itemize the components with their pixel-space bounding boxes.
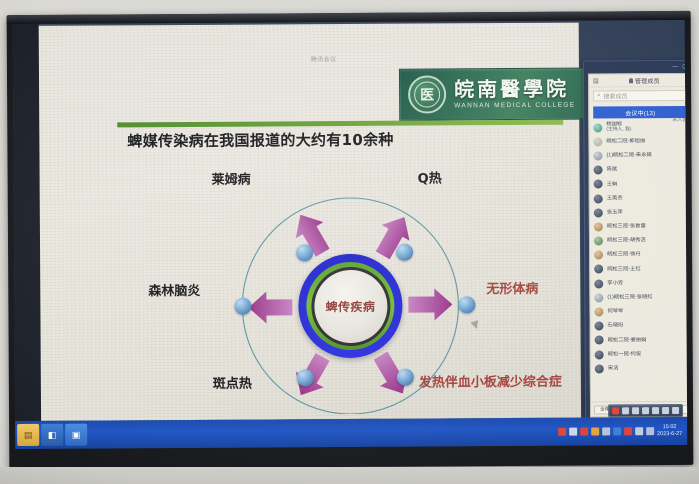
label-lyme-disease: 莱姆病 (212, 169, 251, 188)
taskbar-spacer (87, 432, 558, 435)
list-item[interactable]: 宋洁 (591, 361, 688, 376)
avatar (594, 307, 603, 316)
list-item[interactable]: 皖松三院-徐丹 (590, 248, 687, 263)
screen: 腾讯会议 医 皖南醫學院 WANNAN MEDICAL COLLEGE 蜱媒传染… (13, 20, 688, 449)
participant-name-text: 杨国标 (606, 121, 622, 127)
settings-icon[interactable] (672, 407, 679, 414)
list-item[interactable]: 皖松三院-胡秀洁 (590, 233, 687, 248)
node-top-left (296, 244, 313, 261)
tick-disease-diagram: 蜱传疾病 莱姆病 Q热 森林脑炎 (189, 153, 511, 415)
participant-name: 皖松三院-徐丹 (607, 252, 641, 259)
participant-name: 皖松三院-王红 (607, 266, 641, 273)
participant-name: 李小芳 (607, 280, 623, 287)
college-name-cn: 皖南醫學院 (454, 79, 575, 101)
panel-body: ▤ 管理成员 ⌕ 搜索成员 会议中(13) 未入会 (588, 73, 687, 418)
battery-icon[interactable] (646, 427, 654, 435)
list-item[interactable]: 皖松三院-王红 (590, 262, 687, 277)
participants-panel[interactable]: — ▢ ✕ ▤ 管理成员 ⌕ 搜索成员 (583, 60, 687, 421)
chat-icon[interactable] (569, 428, 577, 436)
avatar (594, 293, 603, 302)
participant-role: (主持人, 我) (606, 128, 631, 134)
participant-name: 皖松三院-胡秀洁 (607, 237, 646, 244)
members-icon[interactable] (662, 407, 669, 414)
seal-glyph: 医 (414, 81, 440, 107)
list-item[interactable]: 石晓阳 (590, 319, 687, 334)
panel-title: 管理成员 (635, 76, 660, 85)
list-item[interactable]: (1)皖松三院-张晓红 (590, 290, 687, 305)
participant-name: 皖松三院-张春蕾 (607, 223, 646, 230)
desk-surface (0, 467, 699, 484)
participant-name: 皖松一院-何俊 (608, 351, 642, 358)
list-item[interactable]: 张玉萍 (590, 205, 687, 220)
avatar (594, 180, 603, 189)
monitor-photo: 腾讯会议 医 皖南醫學院 WANNAN MEDICAL COLLEGE 蜱媒传染… (0, 0, 699, 484)
participant-list[interactable]: 杨国标 (主持人, 我) 皖松二院-郭旭丽 (1)皖松二院-朱永妹 (589, 118, 687, 402)
panel-header: ▤ 管理成员 (589, 74, 687, 88)
network-icon[interactable] (613, 427, 621, 435)
monitor-bezel: 腾讯会议 医 皖南醫學院 WANNAN MEDICAL COLLEGE 蜱媒传染… (7, 11, 694, 469)
node-bottom-left (297, 369, 314, 386)
center-core: 蜱传疾病 (314, 269, 387, 342)
note-icon[interactable] (591, 427, 599, 435)
meeting-watermark: 腾讯会议 (311, 54, 337, 63)
participant-name: 皖松二院-姜丽娟 (608, 337, 647, 344)
college-logo: 医 皖南醫學院 WANNAN MEDICAL COLLEGE (399, 68, 595, 121)
center-ring: 蜱传疾病 (298, 254, 403, 359)
taskbar-clock[interactable]: 15:02 2023-6-27 (657, 424, 684, 438)
label-spotted-fever: 斑点热 (213, 373, 252, 392)
participant-name: 何琴琴 (607, 309, 623, 316)
avatar (593, 151, 602, 160)
avatar (594, 251, 603, 260)
participant-name: (1)皖松三院-张晓红 (607, 294, 652, 301)
members-icon (629, 78, 633, 83)
title-accent-rule (117, 120, 563, 128)
participant-name: 石晓阳 (608, 323, 624, 330)
avatar (593, 137, 602, 146)
avatar (594, 237, 603, 246)
center-ring-dark: 蜱传疾病 (311, 266, 390, 345)
label-sfts: 发热伴血小板减少综合症 (419, 371, 562, 391)
taskbar[interactable]: ▤ ◧ ▣ 15:02 2023-6- (15, 417, 687, 449)
shared-slide: 腾讯会议 医 皖南醫學院 WANNAN MEDICAL COLLEGE 蜱媒传染… (39, 23, 581, 421)
participant-name: 皖松二院-郭旭丽 (606, 138, 645, 145)
mic-icon[interactable] (632, 407, 639, 414)
panel-titlebar[interactable]: — ▢ ✕ (584, 61, 687, 73)
avatar (595, 322, 604, 331)
participant-name: 宋洁 (608, 365, 619, 372)
avatar (594, 265, 603, 274)
avatar (593, 123, 602, 132)
label-forest-encephalitis: 森林脑炎 (148, 280, 200, 299)
participant-name: 王英杰 (607, 195, 623, 202)
avatar (595, 364, 604, 373)
window-left-edge (13, 24, 41, 421)
system-tray[interactable]: 15:02 2023-6-27 (558, 417, 687, 446)
college-name-en: WANNAN MEDICAL COLLEGE (454, 102, 575, 110)
avatar (594, 208, 603, 217)
maximize-button[interactable]: ▢ (682, 63, 687, 69)
list-item[interactable]: 皖松一院-何俊 (591, 347, 688, 362)
label-q-fever: Q热 (418, 167, 442, 186)
avatar (594, 279, 603, 288)
node-bottom-right (397, 369, 414, 386)
participant-name: 张玉萍 (607, 209, 623, 216)
avatar (595, 350, 604, 359)
college-seal-icon: 医 (408, 75, 446, 113)
avatar (595, 336, 604, 345)
list-item[interactable]: 皖松二院-郭旭丽 (589, 134, 687, 149)
avatar (594, 194, 603, 203)
camera-icon[interactable] (642, 407, 649, 414)
minimize-button[interactable]: — (672, 63, 678, 69)
list-item[interactable]: 王娟 (590, 177, 688, 192)
list-item[interactable]: 何琴琴 (590, 304, 687, 319)
list-item[interactable]: 皖松二院-姜丽娟 (591, 333, 688, 348)
list-icon[interactable]: ▤ (593, 77, 599, 84)
center-ring-green: 蜱传疾病 (306, 262, 395, 351)
taskbar-pinned[interactable]: ▤ ◧ ▣ (15, 424, 87, 446)
usb-icon[interactable] (602, 427, 610, 435)
record-icon[interactable] (612, 407, 619, 414)
avatar (594, 222, 603, 231)
list-item[interactable]: 李小芳 (590, 276, 687, 291)
search-placeholder: 搜索成员 (603, 91, 627, 100)
list-item[interactable]: 王英杰 (590, 191, 688, 206)
chat-icon[interactable] (622, 407, 629, 414)
node-left (234, 298, 251, 315)
tab-not-joined[interactable]: 未入会 (672, 116, 687, 123)
share-icon[interactable] (652, 407, 659, 414)
search-input[interactable]: ⌕ 搜索成员 (593, 90, 687, 102)
screen-share-toolbar[interactable] (608, 404, 683, 417)
list-item[interactable]: (1)皖松二院-朱永妹 (589, 148, 687, 163)
app-icon[interactable]: ◧ (41, 424, 63, 446)
list-item[interactable]: 陈斌 (590, 162, 688, 177)
college-logo-text: 皖南醫學院 WANNAN MEDICAL COLLEGE (454, 79, 576, 110)
list-item[interactable]: 皖松三院-张春蕾 (590, 219, 687, 234)
security-icon[interactable] (624, 427, 632, 435)
volume-icon[interactable] (635, 427, 643, 435)
node-right (458, 296, 475, 313)
search-icon: ⌕ (597, 92, 600, 99)
panel-title-wrap: 管理成员 (602, 75, 687, 85)
meeting-icon[interactable]: ▣ (65, 424, 87, 446)
participant-name: 王娟 (607, 181, 618, 188)
participant-name: 陈斌 (607, 167, 618, 174)
slide-title: 蜱媒传染病在我国报道的大约有10余种 (127, 129, 393, 152)
participant-name: 杨国标 (主持人, 我) (606, 121, 631, 134)
node-top-right (396, 244, 413, 261)
avatar (594, 166, 603, 175)
center-label: 蜱传疾病 (326, 297, 376, 314)
label-anaplasmosis: 无形体病 (486, 278, 538, 297)
sogou-input-icon[interactable] (558, 428, 566, 436)
clock-date: 2023-6-27 (657, 431, 682, 438)
folder-icon[interactable]: ▤ (17, 424, 39, 446)
pdf-icon[interactable] (580, 428, 588, 436)
participant-name: (1)皖松二院-朱永妹 (606, 152, 651, 159)
